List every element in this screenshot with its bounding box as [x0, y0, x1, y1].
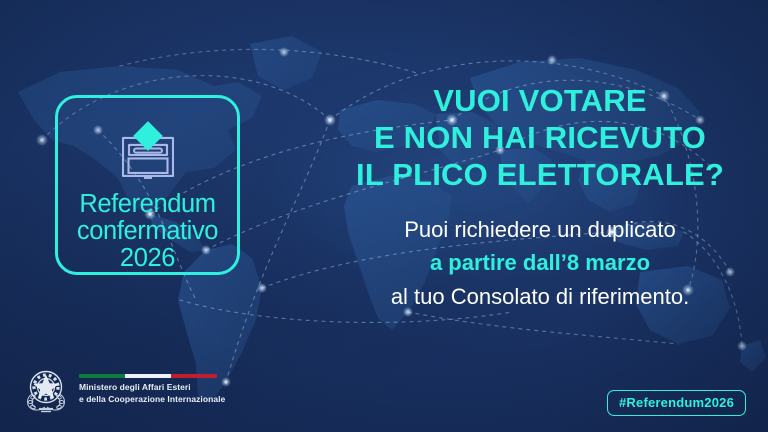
hashtag-badge: #Referendum2026: [607, 390, 746, 416]
subcopy-line-2-highlight: a partire dall’8 marzo: [330, 246, 750, 279]
badge-text: Referendum confermativo 2026: [77, 191, 218, 272]
headline-line-3: IL PLICO ELETTORALE?: [330, 156, 750, 193]
headline-line-1: VUOI VOTARE: [330, 82, 750, 119]
subcopy: Puoi richiedere un duplicato a partire d…: [330, 213, 750, 313]
poster-canvas: Referendum confermativo 2026 VUOI VOTARE…: [0, 0, 768, 432]
subcopy-line-1: Puoi richiedere un duplicato: [330, 213, 750, 246]
ballot-box-icon: [111, 114, 185, 184]
badge-line-2: confermativo: [77, 218, 218, 245]
badge-line-3: 2026: [77, 245, 218, 272]
ministry-name-line-2: e della Cooperazione Internazionale: [79, 394, 225, 406]
ministry-logo: Ministero degli Affari Esteri e della Co…: [22, 364, 225, 414]
referendum-badge: Referendum confermativo 2026: [55, 95, 240, 275]
italian-republic-emblem-icon: [22, 364, 70, 414]
headline: VUOI VOTARE E NON HAI RICEVUTO IL PLICO …: [330, 82, 750, 194]
ministry-text-block: Ministero degli Affari Esteri e della Co…: [79, 372, 225, 405]
subcopy-line-3: al tuo Consolato di riferimento.: [330, 280, 750, 313]
ministry-name-line-1: Ministero degli Affari Esteri: [79, 382, 225, 394]
italian-tricolor-bar-icon: [79, 374, 217, 378]
headline-line-2: E NON HAI RICEVUTO: [330, 119, 750, 156]
ministry-name: Ministero degli Affari Esteri e della Co…: [79, 382, 225, 405]
badge-line-1: Referendum: [77, 191, 218, 218]
